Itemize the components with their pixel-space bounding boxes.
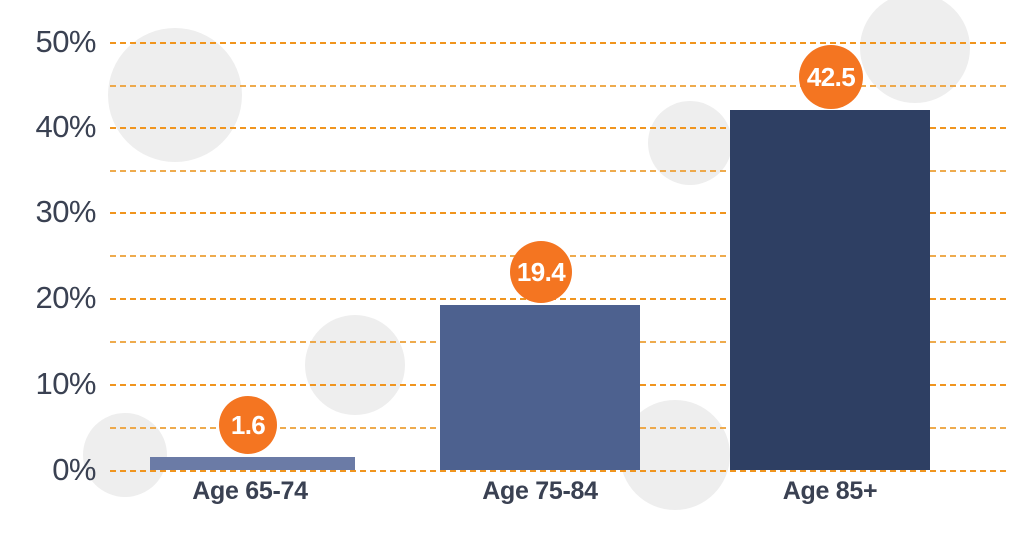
value-badge-age-65-74: 1.6	[219, 396, 277, 454]
value-badge-age-75-84: 19.4	[510, 241, 572, 303]
bar-chart: 1.6 19.4 42.5 50% 40% 30% 20% 10% 0% Age…	[0, 0, 1024, 535]
value-badge-age-85-plus: 42.5	[799, 45, 863, 109]
value-badges-layer: 1.6 19.4 42.5	[0, 0, 1024, 535]
